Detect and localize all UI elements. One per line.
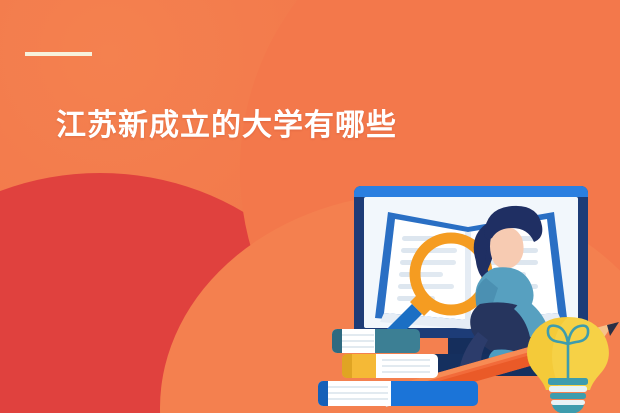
lightbulb-icon [527, 317, 609, 413]
article-cover: 江苏新成立的大学有哪些 [0, 0, 620, 413]
page-title: 江苏新成立的大学有哪些 [56, 108, 397, 143]
study-research-illustration [318, 186, 620, 413]
accent-rule [25, 52, 92, 56]
